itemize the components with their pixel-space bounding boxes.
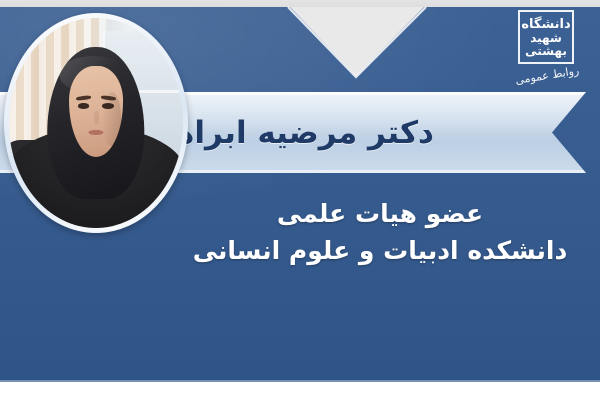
logo-frame-icon: دانشگاه شهید بهشتی bbox=[518, 10, 574, 64]
eyebrow-left bbox=[76, 95, 91, 100]
logo-line-1: دانشگاه bbox=[521, 18, 570, 31]
face-shading bbox=[102, 92, 120, 146]
eye-left bbox=[78, 103, 90, 108]
logo-line-3: بهشتی bbox=[525, 45, 567, 57]
avatar bbox=[4, 13, 188, 233]
lips bbox=[88, 130, 103, 135]
portrait-photo bbox=[9, 18, 183, 228]
logo-line-2: شهید bbox=[530, 32, 562, 44]
subtitle-block: عضو هیات علمی دانشکده ادبیات و علوم انسا… bbox=[180, 196, 580, 270]
public-relations-label: روابط عمومی bbox=[491, 64, 580, 91]
subtitle-line-1: عضو هیات علمی bbox=[180, 196, 580, 232]
nose bbox=[94, 111, 99, 124]
subtitle-line-2: دانشکده ادبیات و علوم انسانی bbox=[180, 232, 580, 270]
university-logo: دانشگاه شهید بهشتی روابط عمومی bbox=[488, 6, 580, 94]
poster-card: دکتر مرضیه ابراهیمی bbox=[0, 0, 600, 400]
bottom-white-band bbox=[0, 382, 600, 400]
